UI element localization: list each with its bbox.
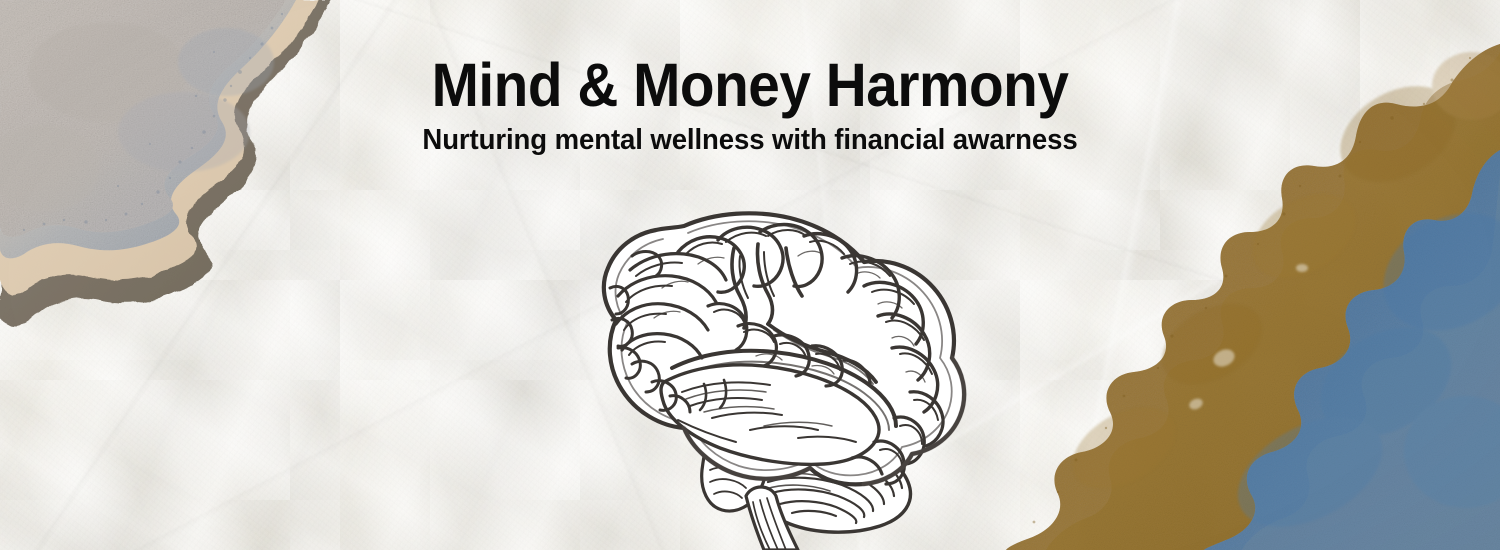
banner-root: Mind & Money Harmony Nurturing mental we… xyxy=(0,0,1500,550)
page-title: Mind & Money Harmony xyxy=(53,54,1448,116)
brain-icon xyxy=(512,196,982,550)
brain-illustration-wrapper xyxy=(512,196,982,550)
page-subtitle: Nurturing mental wellness with financial… xyxy=(38,125,1463,157)
headline-block: Mind & Money Harmony Nurturing mental we… xyxy=(0,54,1500,157)
